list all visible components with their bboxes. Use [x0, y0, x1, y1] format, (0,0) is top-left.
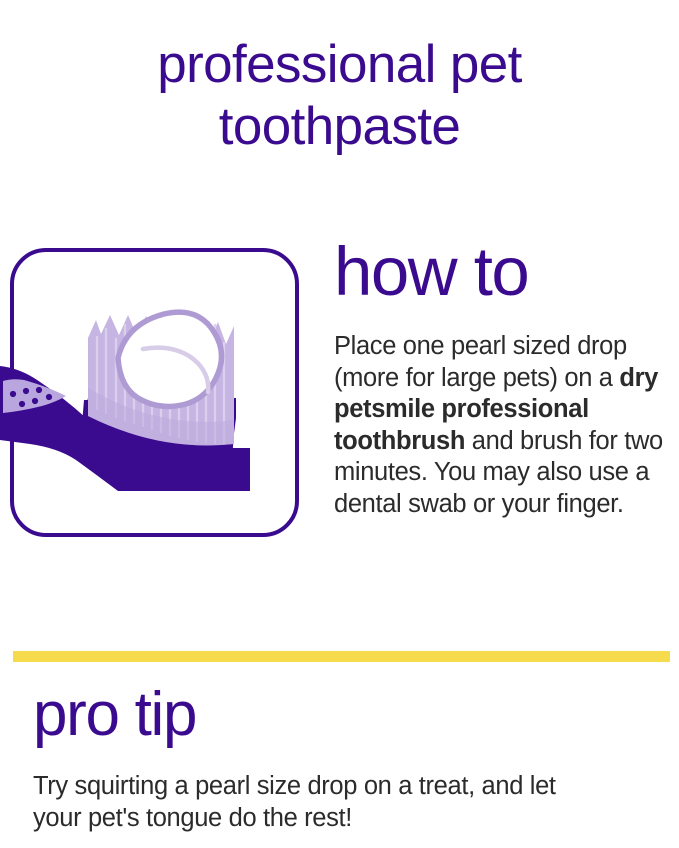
- pro-tip-section: pro tip Try squirting a pearl size drop …: [33, 682, 663, 834]
- how-to-body-part-1: Place one pearl sized drop (more for lar…: [334, 332, 627, 392]
- yellow-divider-rule: [13, 651, 670, 662]
- how-to-body: Place one pearl sized drop (more for lar…: [334, 304, 664, 520]
- illustration-clip: [0, 248, 310, 544]
- pro-tip-heading: pro tip: [33, 682, 663, 748]
- how-to-section: how to Place one pearl sized drop (more …: [0, 236, 679, 566]
- page-title: professional pet toothpaste: [0, 34, 679, 158]
- how-to-text-column: how to Place one pearl sized drop (more …: [334, 236, 664, 520]
- illustration-frame: [10, 248, 299, 537]
- how-to-heading: how to: [334, 236, 664, 304]
- toothbrush-with-paste-icon: [0, 248, 310, 544]
- pro-tip-body: Try squirting a pearl size drop on a tre…: [33, 748, 663, 834]
